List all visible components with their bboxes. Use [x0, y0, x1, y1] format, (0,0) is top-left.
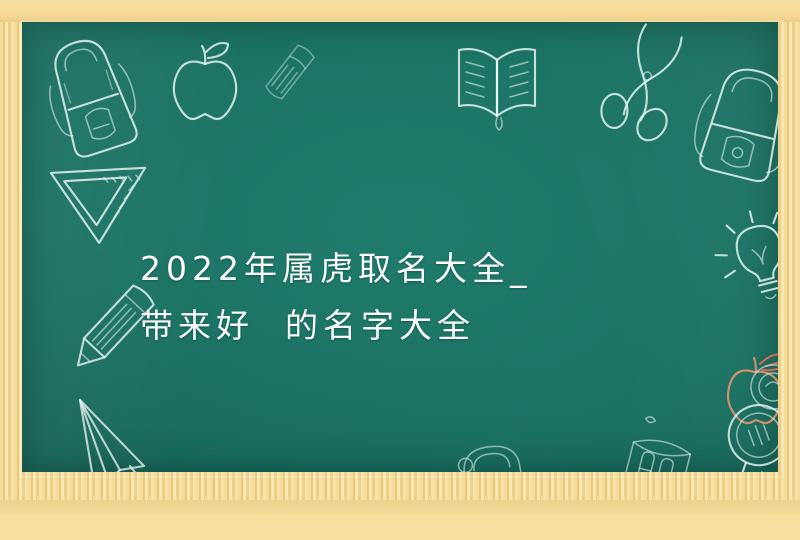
- backpack-icon: [682, 44, 778, 194]
- backpack-icon: [434, 428, 564, 472]
- apple-icon: [160, 30, 250, 130]
- pencil-case-icon: [588, 414, 718, 472]
- magnifying-glass-icon: [700, 396, 778, 472]
- badge-icon: [738, 352, 778, 422]
- lightbulb-icon: [702, 200, 778, 320]
- title-line-2: 带来好 的名字大全: [140, 297, 700, 354]
- ruler-icon: [294, 470, 424, 472]
- backpack-icon: [32, 22, 152, 178]
- dashed-trail-icon: [122, 462, 342, 472]
- chalkboard-surface: 2022年属虎取名大全_ 带来好 的名字大全: [22, 22, 778, 472]
- chalkboard-title-card: 2022年属虎取名大全_ 带来好 的名字大全: [0, 0, 800, 540]
- eraser-icon: [250, 32, 330, 112]
- page-title: 2022年属虎取名大全_ 带来好 的名字大全: [140, 240, 700, 354]
- frame-top-band: [0, 0, 800, 22]
- paper-plane-icon: [46, 388, 186, 472]
- title-line-1: 2022年属虎取名大全_: [140, 240, 700, 297]
- frame-bottom-band: [0, 500, 800, 540]
- apple-icon: [716, 340, 778, 430]
- open-book-icon: [442, 30, 552, 140]
- scissors-icon: [582, 22, 712, 142]
